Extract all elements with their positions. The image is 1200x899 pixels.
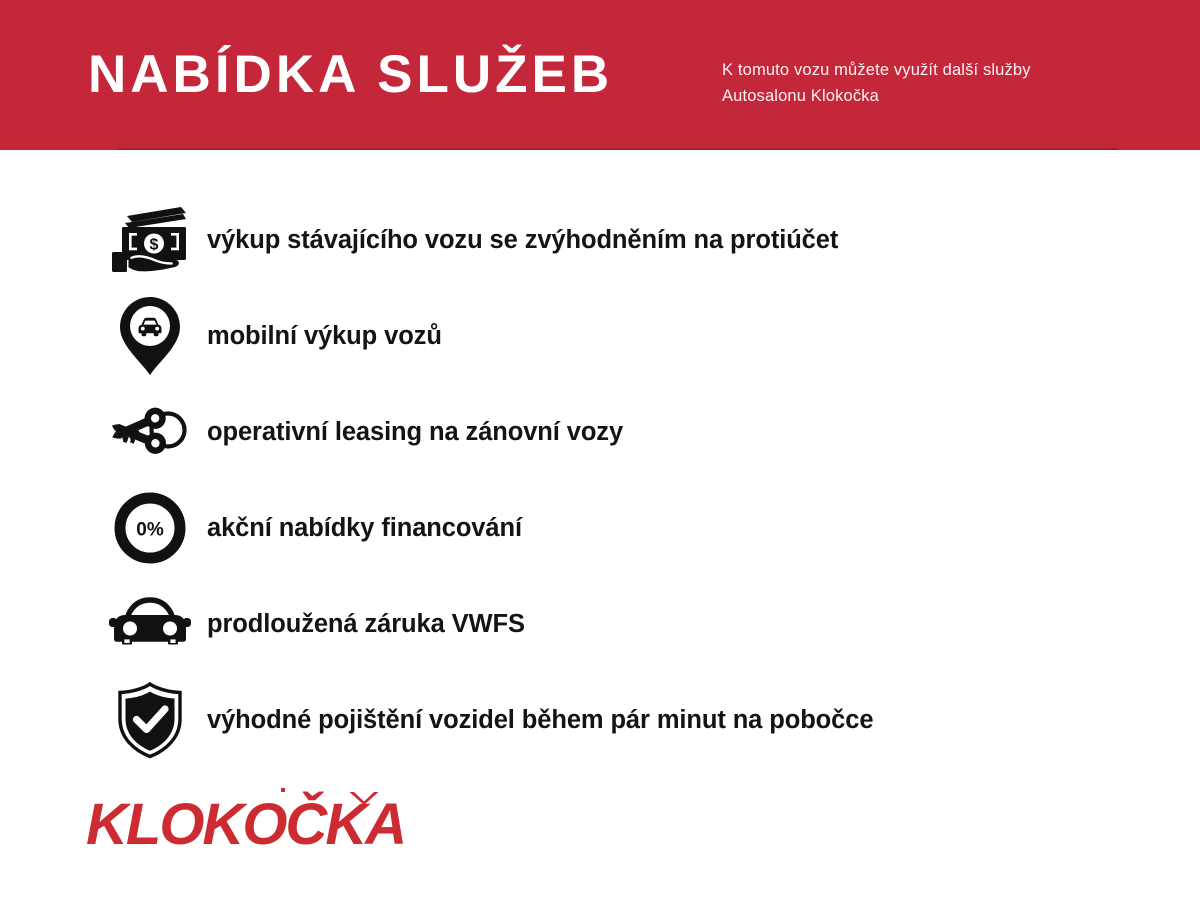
service-item-operating-lease: operativní leasing na zánovní vozy bbox=[100, 384, 1160, 480]
service-item-label: operativní leasing na zánovní vozy bbox=[200, 418, 623, 447]
service-item-insurance: výhodné pojištění vozidel během pár minu… bbox=[100, 672, 1160, 768]
header-subtitle-line-2: Autosalonu Klokočka bbox=[722, 83, 1122, 109]
header-content: NABÍDKA SLUŽEB K tomuto vozu můžete využ… bbox=[0, 0, 1200, 150]
service-item-label: výhodné pojištění vozidel během pár minu… bbox=[200, 706, 873, 735]
header-divider bbox=[118, 148, 1118, 150]
map-pin-car-icon bbox=[100, 294, 200, 378]
service-item-label: akční nabídky financování bbox=[200, 514, 522, 543]
service-item-extended-warranty: prodloužená záruka VWFS bbox=[100, 576, 1160, 672]
service-item-buyback: $ výkup stávajícího vozu se zvýhodněním … bbox=[100, 192, 1160, 288]
page-header: NABÍDKA SLUŽEB K tomuto vozu můžete využ… bbox=[0, 0, 1200, 150]
service-item-label: prodloužená záruka VWFS bbox=[200, 610, 525, 639]
service-item-financing: 0% akční nabídky financování bbox=[100, 480, 1160, 576]
klokocka-logo: KLOKOČKA bbox=[86, 786, 506, 856]
car-front-icon bbox=[100, 582, 200, 666]
zero-percent-circle-icon: 0% bbox=[100, 486, 200, 570]
logo-wordmark: KLOKOČKA bbox=[86, 792, 405, 856]
service-item-mobile-buyback: mobilní výkup vozů bbox=[100, 288, 1160, 384]
page-title: NABÍDKA SLUŽEB bbox=[88, 46, 613, 104]
svg-text:$: $ bbox=[150, 237, 159, 254]
car-keys-icon bbox=[100, 390, 200, 474]
zero-percent-label: 0% bbox=[136, 520, 164, 541]
header-subtitle-line-1: K tomuto vozu můžete využít další služby bbox=[722, 57, 1122, 83]
service-item-label: mobilní výkup vozů bbox=[200, 322, 442, 351]
header-subtitle: K tomuto vozu můžete využít další služby… bbox=[722, 57, 1122, 109]
shield-check-icon bbox=[100, 678, 200, 762]
service-item-label: výkup stávajícího vozu se zvýhodněním na… bbox=[200, 226, 838, 255]
cash-in-hand-icon: $ bbox=[100, 198, 200, 282]
